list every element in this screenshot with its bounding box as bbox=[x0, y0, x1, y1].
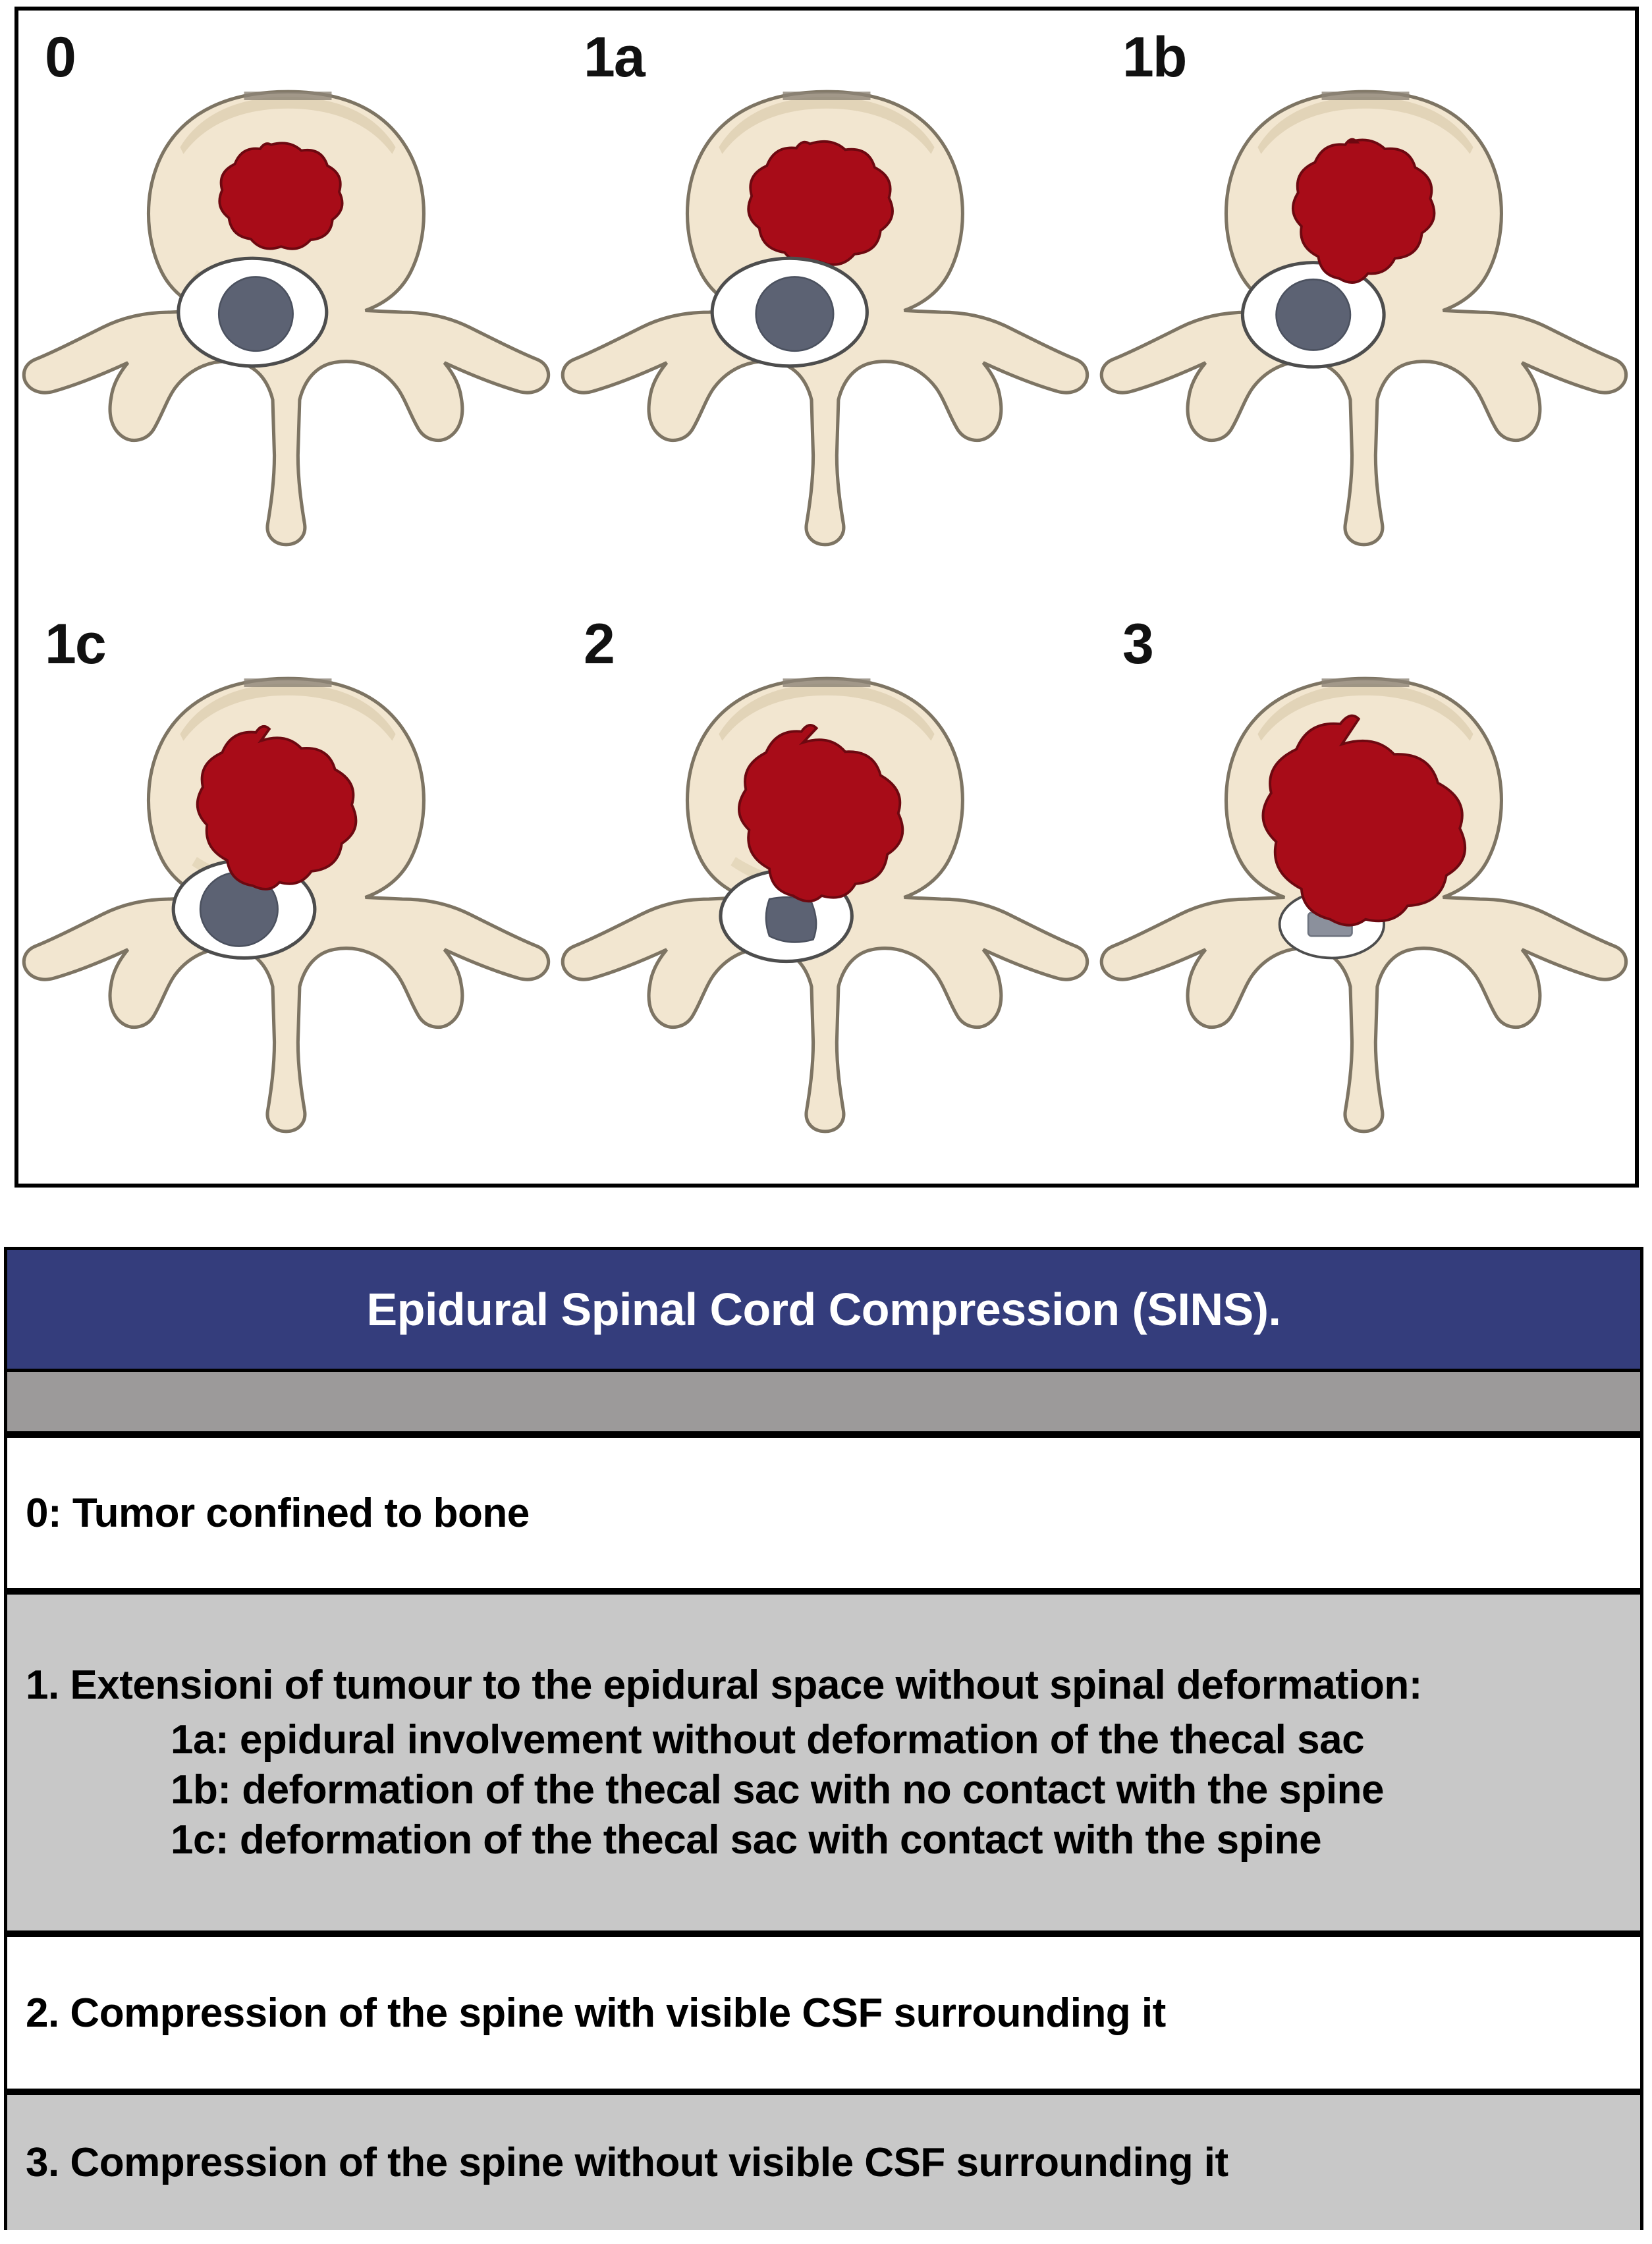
vertebra-drawing-3 bbox=[1096, 597, 1635, 1184]
vertebra-panel-2: 2 bbox=[557, 597, 1096, 1184]
vertebra-drawing-1c bbox=[18, 597, 557, 1184]
vertebra-grid: 0 1a bbox=[18, 11, 1635, 1184]
caption-row-grade-1b-text: 1b: deformation of the thecal sac with n… bbox=[26, 1765, 1384, 1815]
tumor-mass-1a bbox=[748, 142, 893, 265]
caption-row-grade-2: 2. Compression of the spine with visible… bbox=[7, 1934, 1640, 2092]
vertebra-panel-1a: 1a bbox=[557, 11, 1096, 597]
vertebra-drawing-0 bbox=[18, 11, 557, 597]
vertebra-drawing-1b bbox=[1096, 11, 1635, 597]
caption-row-grade-1c-text: 1c: deformation of the thecal sac with c… bbox=[26, 1815, 1321, 1865]
caption-row-grade-3: 3. Compression of the spine without visi… bbox=[7, 2092, 1640, 2230]
vertebra-panel-1c: 1c bbox=[18, 597, 557, 1184]
vertebra-figure-panel: 0 1a bbox=[14, 7, 1639, 1188]
thecal-sac-0 bbox=[179, 258, 327, 366]
vertebra-drawing-2 bbox=[557, 597, 1096, 1184]
vertebra-grade-label-0: 0 bbox=[45, 25, 75, 90]
tumor-mass-0 bbox=[219, 143, 342, 248]
caption-row-grade-1a-text: 1a: epidural involvement without deforma… bbox=[26, 1715, 1364, 1765]
vertebra-grade-label-1a: 1a bbox=[584, 25, 644, 90]
caption-row-grade-0: 0: Tumor confined to bone bbox=[7, 1435, 1640, 1591]
caption-title: Epidural Spinal Cord Compression (SINS). bbox=[367, 1283, 1281, 1336]
vertebra-grade-label-2: 2 bbox=[584, 612, 614, 677]
caption-row-grade-3-text: 3. Compression of the spine without visi… bbox=[26, 2139, 1228, 2186]
caption-table: Epidural Spinal Cord Compression (SINS).… bbox=[4, 1247, 1643, 2230]
caption-row-grade-1: 1. Extensioni of tumour to the epidural … bbox=[7, 1591, 1640, 1934]
vertebra-grade-label-1c: 1c bbox=[45, 612, 105, 677]
vertebra-panel-0: 0 bbox=[18, 11, 557, 597]
vertebra-panel-1b: 1b bbox=[1096, 11, 1635, 597]
spinal-cord-0 bbox=[219, 277, 292, 350]
caption-row-grade-1-text: 1. Extensioni of tumour to the epidural … bbox=[26, 1660, 1422, 1710]
spinal-cord-2 bbox=[766, 897, 816, 942]
spinal-cord-1a bbox=[756, 277, 834, 350]
vertebra-panel-3: 3 bbox=[1096, 597, 1635, 1184]
caption-title-row: Epidural Spinal Cord Compression (SINS). bbox=[7, 1247, 1640, 1372]
vertebra-drawing-1a bbox=[557, 11, 1096, 597]
spinal-cord-1b bbox=[1277, 279, 1350, 350]
vertebra-grade-label-1b: 1b bbox=[1122, 25, 1186, 90]
thecal-sac-1a bbox=[712, 258, 867, 366]
vertebra-grade-label-3: 3 bbox=[1122, 612, 1153, 677]
caption-row-grade-2-text: 2. Compression of the spine with visible… bbox=[26, 1990, 1166, 2037]
caption-spacer-bar bbox=[7, 1372, 1640, 1435]
caption-row-grade-0-text: 0: Tumor confined to bone bbox=[26, 1490, 530, 1537]
